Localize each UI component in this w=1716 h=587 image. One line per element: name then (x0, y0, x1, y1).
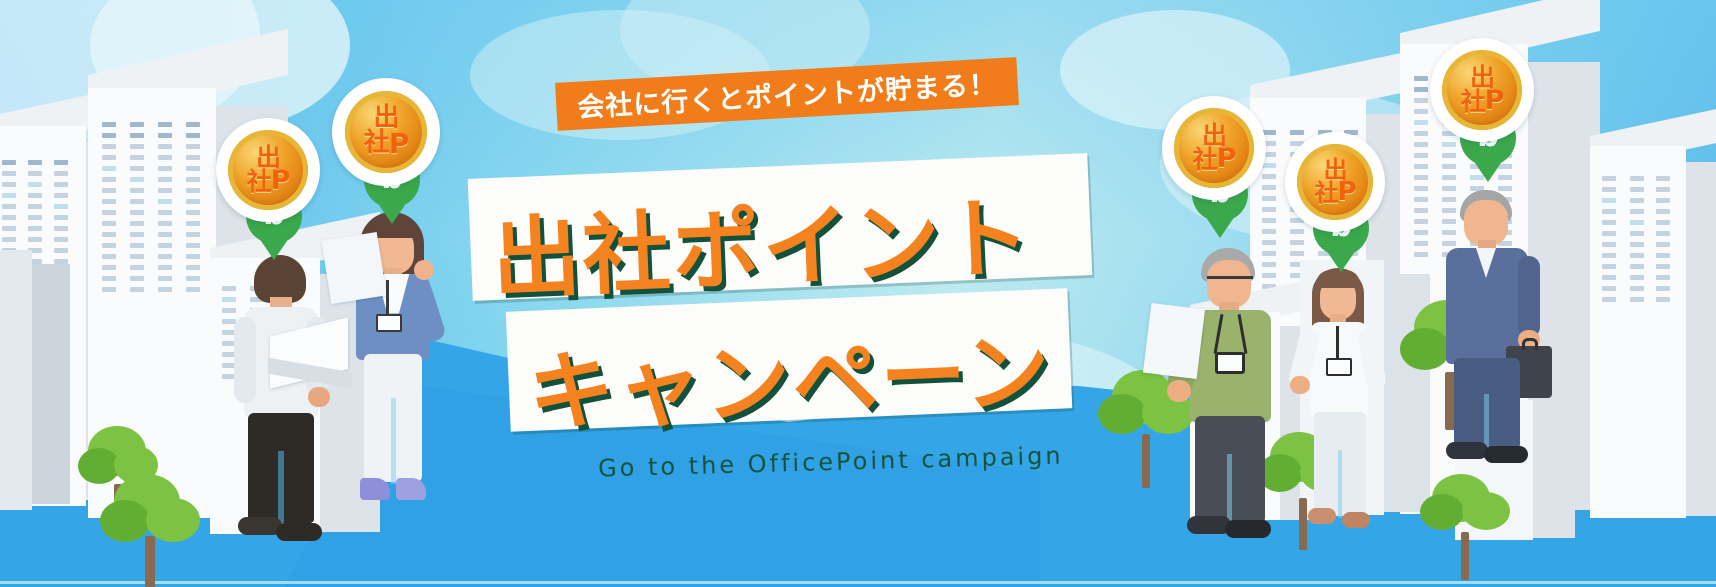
id-badge (1326, 358, 1352, 376)
coin-char-mid: 社 (1461, 90, 1485, 113)
coin-char-mid: 社 (1193, 148, 1217, 171)
coin-char-p: P (1337, 181, 1355, 205)
briefcase-handle (1522, 338, 1538, 350)
title-line2: キャンペーン (526, 301, 1054, 448)
point-coin: 出 社P (1174, 108, 1254, 188)
shoe-left (1446, 442, 1488, 459)
leg-split (1338, 450, 1342, 518)
glasses (1207, 276, 1253, 286)
leg-split (1227, 454, 1232, 526)
arm-right (1518, 256, 1540, 338)
coin-label: 出 社P (364, 107, 409, 157)
coin-char-p: P (1217, 147, 1236, 172)
shoe-right (1484, 446, 1528, 463)
badge-right-1[interactable]: b 出 社P (1162, 96, 1272, 246)
coin-label: 出 社P (1314, 159, 1355, 205)
shoe-right (1225, 520, 1271, 538)
hand-left (1290, 376, 1310, 394)
ground-baseline (0, 581, 1716, 584)
coin-char-mid: 社 (1314, 182, 1337, 204)
person-man-navy-suit (1430, 190, 1545, 470)
point-coin: 出 社P (1297, 144, 1373, 220)
coin-label: 出 社P (1193, 124, 1236, 172)
badge-right-3[interactable]: b 出 社P (1430, 38, 1542, 190)
leg-split (391, 398, 396, 484)
id-badge (1215, 352, 1245, 374)
building-left-d (0, 250, 70, 510)
campaign-banner: b 出 社P b 出 社P b (0, 0, 1716, 587)
coin-label: 出 社P (247, 146, 290, 194)
person-woman-white-shirt (1290, 268, 1390, 536)
id-badge (376, 314, 402, 332)
paper (1143, 303, 1205, 379)
point-coin: 出 社P (345, 91, 427, 173)
shoe-right (276, 523, 322, 541)
coin-char-mid: 社 (364, 132, 389, 156)
person-woman-blue-jacket (338, 212, 448, 512)
building-right-c (1590, 120, 1716, 520)
lanyard (1336, 326, 1339, 360)
tree-right-4 (1420, 470, 1510, 580)
arm-left (234, 317, 256, 403)
person-man-white-shirt (228, 255, 338, 545)
hand-left (1167, 380, 1191, 402)
leg-split (278, 451, 284, 525)
paper (321, 232, 386, 304)
shoe-right (1342, 512, 1370, 528)
badge-right-2[interactable]: b 出 社P (1285, 132, 1393, 280)
lanyard (386, 280, 389, 316)
point-coin: 出 社P (228, 130, 308, 210)
shoe-left (1308, 508, 1336, 524)
coin-char-mid: 社 (247, 170, 271, 193)
heel-left (360, 478, 390, 500)
heel-right (396, 478, 426, 500)
badge-left-2[interactable]: b 出 社P (332, 78, 447, 233)
coin-char-p: P (389, 131, 409, 157)
hand-right (414, 260, 434, 280)
point-coin: 出 社P (1442, 50, 1522, 130)
coin-char-p: P (1485, 89, 1504, 114)
coin-label: 出 社P (1461, 66, 1504, 114)
tree-left-2 (100, 472, 200, 587)
coin-char-p: P (271, 169, 290, 194)
person-man-olive-shirt (1165, 248, 1290, 540)
hand (308, 387, 330, 407)
badge-left-1[interactable]: b 出 社P (216, 118, 326, 268)
